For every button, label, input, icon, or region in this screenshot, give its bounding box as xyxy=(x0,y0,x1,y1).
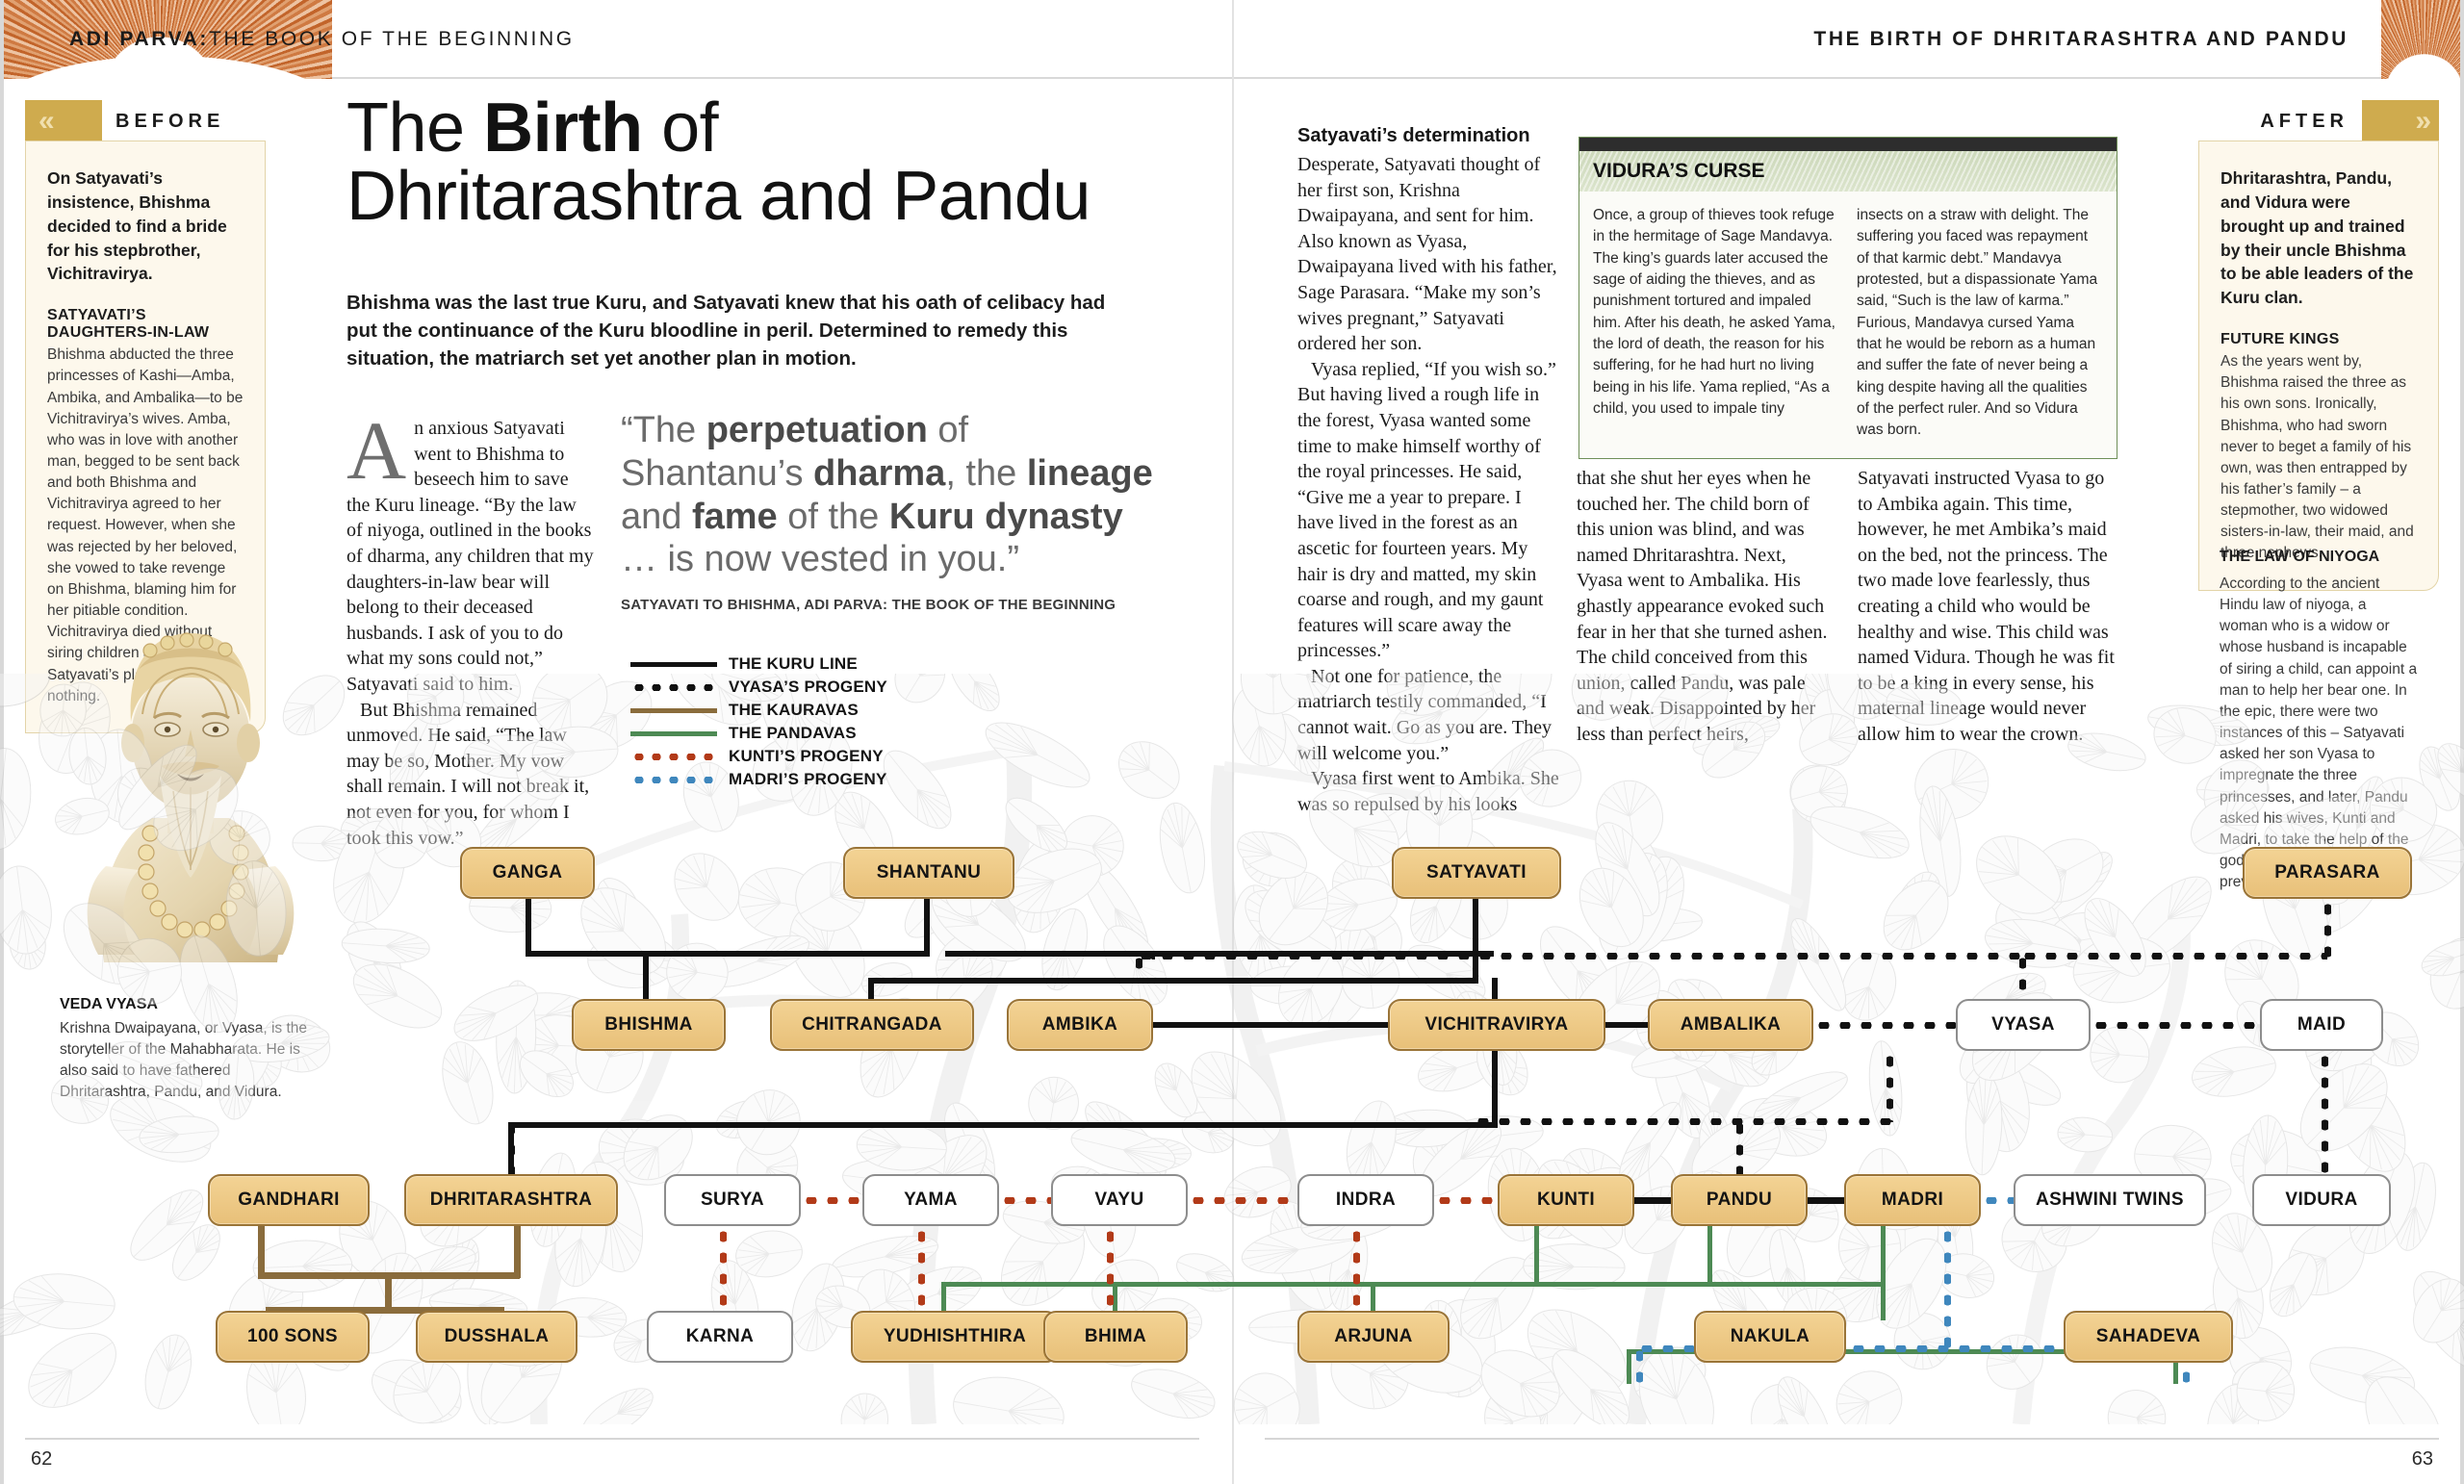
tree-node-dusshala[interactable]: DUSSHALA xyxy=(416,1311,577,1363)
running-head-left-bold: ADI PARVA: xyxy=(69,28,209,51)
legend-item-3: THE PANDAVAS xyxy=(630,722,887,745)
legend-swatch-icon xyxy=(630,749,717,764)
line-arjuna-green-up xyxy=(1371,1282,1375,1313)
tree-node-vichitravirya[interactable]: VICHITRAVIRYA xyxy=(1388,999,1605,1051)
line-vyasa-progeny-bus xyxy=(1473,1118,1892,1125)
line-nakula-up xyxy=(1627,1349,1631,1384)
line-vayu-bhima xyxy=(1107,1226,1114,1313)
tree-node-surya[interactable]: SURYA xyxy=(664,1174,801,1226)
line-bhishma-up xyxy=(643,951,649,999)
line-maid-vidura xyxy=(2322,1051,2328,1174)
tree-node-parasara[interactable]: PARASARA xyxy=(2243,847,2412,899)
tree-node-vidura[interactable]: VIDURA xyxy=(2252,1174,2391,1226)
page-title: The Birth of Dhritarashtra and Pandu xyxy=(346,94,1107,230)
tree-node-ambalika[interactable]: AMBALIKA xyxy=(1648,999,1813,1051)
pull-quote-part-8: of the xyxy=(778,497,889,537)
legend-label: MADRI’S PROGENY xyxy=(729,770,887,789)
line-vayu-indra xyxy=(1188,1197,1297,1204)
pull-quote-part-1: perpetuation xyxy=(706,410,928,450)
tree-node-nakula[interactable]: NAKULA xyxy=(1694,1311,1846,1363)
legend-item-0: THE KURU LINE xyxy=(630,652,887,676)
title-line1-bold: Birth xyxy=(483,90,642,166)
pull-quote-close-mark: ” xyxy=(1007,539,1019,579)
line-gandhari-down xyxy=(258,1226,265,1278)
after-subhead: FUTURE KINGS xyxy=(2220,331,2417,348)
tree-node-sahadeva[interactable]: SAHADEVA xyxy=(2064,1311,2233,1363)
line-parasara-down xyxy=(2324,899,2331,959)
tree-node-vyasa[interactable]: VYASA xyxy=(1956,999,2091,1051)
legend-label: KUNTI’S PROGENY xyxy=(729,747,884,766)
line-yama-yudhishthira xyxy=(918,1226,925,1313)
vidura-box-body: Once, a group of thieves took refuge in … xyxy=(1579,192,2117,458)
pull-quote-part-9: Kuru dynasty xyxy=(889,497,1123,537)
before-tab-label: BEFORE xyxy=(102,100,266,142)
running-head-left: ADI PARVA: THE BOOK OF THE BEGINNING xyxy=(69,0,575,79)
legend-swatch-icon xyxy=(630,726,717,741)
tree-node-madri[interactable]: MADRI xyxy=(1844,1174,1981,1226)
line-dhritarashtra-down xyxy=(514,1226,521,1278)
page-number-right: 63 xyxy=(2412,1448,2433,1471)
tree-node-ambika[interactable]: AMBIKA xyxy=(1007,999,1153,1051)
after-tab-label: AFTER xyxy=(2184,100,2362,142)
niyoga-subhead: THE LAW OF NIYOGA xyxy=(2198,549,2439,566)
drop-cap: A xyxy=(346,422,406,481)
legend-label: VYASA’S PROGENY xyxy=(729,678,887,697)
line-chitrangada-up xyxy=(868,978,874,999)
line-dhritarashtra-up-dot xyxy=(508,1118,515,1174)
tree-node-kunti[interactable]: KUNTI xyxy=(1498,1174,1634,1226)
title-line1-regular: The xyxy=(346,90,483,166)
line-nakula-blue-up xyxy=(1636,1345,1643,1390)
tree-node-ganga[interactable]: GANGA xyxy=(460,847,595,899)
col2-para1: Desperate, Satyavati thought of her firs… xyxy=(1297,152,1559,357)
line-pandu-down xyxy=(1707,1226,1712,1286)
vidura-box-heading: VIDURA’S CURSE xyxy=(1579,151,2117,192)
legend-swatch-icon xyxy=(630,703,717,718)
line-kunti-pandu xyxy=(1634,1197,1673,1204)
tree-node-vayu[interactable]: VAYU xyxy=(1051,1174,1188,1226)
legend-label: THE KAURAVAS xyxy=(729,701,859,720)
line-ganga-down xyxy=(526,899,531,953)
sunburst-ornament-right xyxy=(2381,0,2464,79)
line-surya-karna xyxy=(720,1226,727,1313)
tree-node-gandhari[interactable]: GANDHARI xyxy=(208,1174,370,1226)
pull-quote-part-0: The xyxy=(633,410,706,450)
title-line2: Dhritarashtra and Pandu xyxy=(346,163,1107,231)
line-vichitravirya-ambalika xyxy=(1605,1022,1650,1028)
standfirst: Bhishma was the last true Kuru, and Saty… xyxy=(346,289,1107,372)
line-satyavati-vyasa xyxy=(1136,953,2021,959)
tree-node-arjuna[interactable]: ARJUNA xyxy=(1297,1311,1450,1363)
legend-item-2: THE KAURAVAS xyxy=(630,699,887,722)
line-vichitravirya-children-bus xyxy=(508,1122,1498,1128)
pull-quote-part-5: lineage xyxy=(1027,453,1153,494)
legend-label: THE PANDAVAS xyxy=(729,724,857,743)
after-lead-text: Dhritarashtra, Pandu, and Vidura were br… xyxy=(2220,166,2417,310)
pull-quote-part-7: fame xyxy=(692,497,778,537)
line-satyavati-vyasa-stem xyxy=(1136,953,1142,982)
line-vyasa-maid xyxy=(2091,1022,2262,1029)
tree-legend: THE KURU LINEVYASA’S PROGENYTHE KAURAVAS… xyxy=(630,652,887,791)
legend-item-4: KUNTI’S PROGENY xyxy=(630,745,887,768)
line-satyavati-children-bus xyxy=(868,978,1478,984)
pull-quote-citation: SATYAVATI TO BHISHMA, ADI PARVA: THE BOO… xyxy=(621,597,1218,613)
legend-item-1: VYASA’S PROGENY xyxy=(630,676,887,699)
line-satyavati-down xyxy=(1473,899,1478,953)
line-pandu-madri xyxy=(1808,1197,1846,1204)
before-subhead: SATYAVATI’S DAUGHTERS-IN-LAW xyxy=(47,307,244,342)
pull-quote-part-3: dharma xyxy=(813,453,945,494)
line-vichitravirya-down xyxy=(1492,1051,1498,1126)
pull-quote-part-6: and xyxy=(621,497,692,537)
line-madri-down xyxy=(1881,1226,1886,1320)
col2-para2: Vyasa replied, “If you wish so.” But hav… xyxy=(1297,357,1559,664)
tree-node-yudhishthira[interactable]: YUDHISHTHIRA xyxy=(851,1311,1059,1363)
line-pandava-bus xyxy=(941,1282,1885,1287)
footer-rule-right xyxy=(1265,1438,2439,1440)
after-sidebar: Dhritarashtra, Pandu, and Vidura were br… xyxy=(2198,141,2439,591)
title-line1-tail: of xyxy=(643,90,719,166)
family-tree-diagram: GANGASHANTANUSATYAVATIPARASARABHISHMACHI… xyxy=(0,674,2464,1424)
line-vyasa-up xyxy=(2019,953,2026,1001)
vidura-box-col-left: Once, a group of thieves took refuge in … xyxy=(1593,205,1839,441)
chevron-left-icon: « xyxy=(38,107,49,136)
tree-node-bhima[interactable]: BHIMA xyxy=(1043,1311,1188,1363)
tree-node-yama[interactable]: YAMA xyxy=(862,1174,999,1226)
after-body-text: As the years went by, Bhishma raised the… xyxy=(2220,351,2417,565)
line-ganga-shantanu xyxy=(526,951,930,957)
legend-label: THE KURU LINE xyxy=(729,654,858,674)
footer-rule-left xyxy=(25,1438,1199,1440)
vidura-curse-box: VIDURA’S CURSE Once, a group of thieves … xyxy=(1578,137,2117,459)
legend-swatch-icon xyxy=(630,679,717,695)
line-indra-arjuna xyxy=(1353,1226,1360,1313)
tree-node-karna[interactable]: KARNA xyxy=(647,1311,793,1363)
line-vyasa-progeny-stem xyxy=(1886,1051,1893,1122)
book-spread: ADI PARVA: THE BOOK OF THE BEGINNING THE… xyxy=(0,0,2464,1484)
tree-node-dhritarashtra[interactable]: DHRITARASHTRA xyxy=(404,1174,618,1226)
pull-quote-open-mark: “ xyxy=(621,410,633,450)
line-kunti-down xyxy=(1534,1226,1539,1286)
col2-heading: Satyavati’s determination xyxy=(1297,125,1567,147)
vidura-box-top-rule xyxy=(1579,138,2117,151)
tree-node-shantanu[interactable]: SHANTANU xyxy=(843,847,1014,899)
running-head-left-rest: THE BOOK OF THE BEGINNING xyxy=(209,28,575,51)
line-ashwini-down xyxy=(1944,1205,1951,1349)
before-lead-text: On Satyavati’s insistence, Bhishma decid… xyxy=(47,166,244,286)
tree-node-pandu[interactable]: PANDU xyxy=(1671,1174,1808,1226)
legend-item-5: MADRI’S PROGENY xyxy=(630,768,887,791)
legend-swatch-icon xyxy=(630,656,717,672)
line-vyasa-ambika-tick xyxy=(1145,953,1155,959)
legend-swatch-icon xyxy=(630,772,717,787)
line-vichitravirya-up xyxy=(1492,978,1498,999)
tree-node-bhishma[interactable]: BHISHMA xyxy=(572,999,726,1051)
line-shantanu-down xyxy=(924,899,930,953)
running-head-right: THE BIRTH OF DHRITARASHTRA AND PANDU xyxy=(1813,0,2348,79)
line-ambalika-vyasa xyxy=(1813,1022,1958,1029)
line-yudhishthira-green-up xyxy=(941,1282,946,1313)
tree-node-ashwini[interactable]: ASHWINI TWINS xyxy=(2014,1174,2206,1226)
pull-quote-part-4: , the xyxy=(945,453,1027,494)
tree-node-satyavati[interactable]: SATYAVATI xyxy=(1392,847,1561,899)
line-surya-yama xyxy=(801,1197,862,1204)
line-pandu-up xyxy=(1736,1118,1743,1174)
line-yama-vayu xyxy=(999,1197,1051,1204)
chevron-right-icon: » xyxy=(2415,107,2425,136)
tree-node-chitrangada[interactable]: CHITRANGADA xyxy=(770,999,974,1051)
line-ambika-vichitravirya xyxy=(1153,1022,1390,1028)
line-parasara-vyasa-bus xyxy=(2019,953,2327,959)
vidura-box-col-right: insects on a straw with delight. The suf… xyxy=(1857,205,2103,441)
tree-node-maid[interactable]: MAID xyxy=(2260,999,2383,1051)
page-number-left: 62 xyxy=(31,1448,52,1471)
pull-quote-part-10: … is now vested in you. xyxy=(621,539,1007,579)
line-indra-kunti xyxy=(1434,1197,1498,1204)
tree-node-sons100[interactable]: 100 SONS xyxy=(216,1311,370,1363)
tree-node-indra[interactable]: INDRA xyxy=(1297,1174,1434,1226)
pull-quote: “The perpetuation of Shantanu’s dharma, … xyxy=(621,409,1160,581)
